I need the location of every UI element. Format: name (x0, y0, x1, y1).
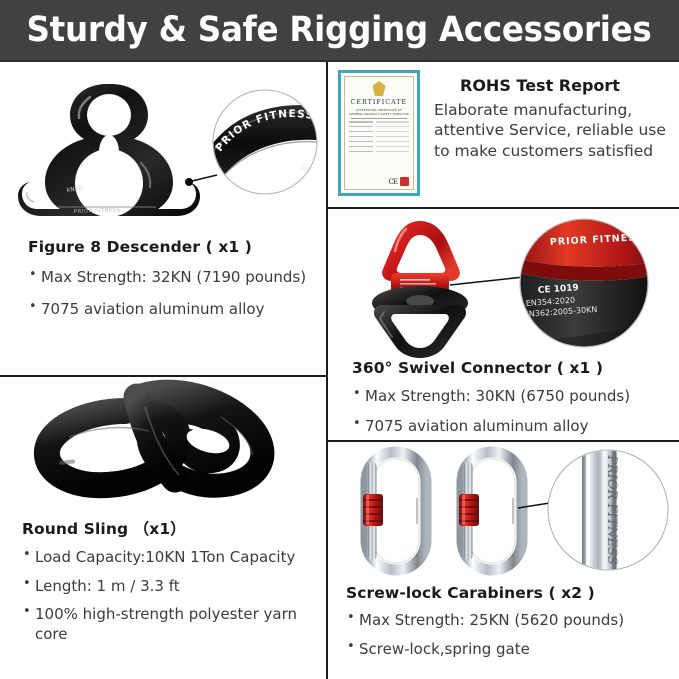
round-sling-illustration (25, 381, 305, 509)
swivel-title: 360° Swivel Connector ( x1 ) (352, 359, 677, 377)
certificate-subtitle: ATTESTATION CERTIFICATE OF GENERAL PRODU… (349, 108, 409, 116)
figure8-spec-list: Max Strength: 32KN (7190 pounds) 7075 av… (28, 268, 320, 319)
swivel-callout-leader (450, 277, 524, 285)
carabiner-magnifier-callout: PRIOR FITNESS (548, 446, 668, 576)
carabiners-title: Screw-lock Carabiners ( x2 ) (346, 584, 676, 602)
certificate-seal-icon (373, 81, 386, 96)
carabiner-1 (363, 452, 426, 570)
product-card-round-sling: Round Sling （x1） Load Capacity:10KN 1Ton… (0, 377, 326, 679)
swivel-text-block: 360° Swivel Connector ( x1 ) Max Strengt… (352, 359, 677, 436)
certificate-heading: CERTIFICATE (351, 98, 408, 106)
certificate-image: CERTIFICATE ATTESTATION CERTIFICATE OF G… (338, 70, 420, 196)
swivel-magnifier-callout: PRIOR FITNESS CE 1019 EN354:2020 EN362:2… (518, 213, 658, 363)
list-item: Length: 1 m / 3.3 ft (22, 577, 322, 597)
carabiners-spec-list: Max Strength: 25KN (5620 pounds) Screw-l… (346, 611, 676, 659)
list-item: 7075 aviation aluminum alloy (352, 417, 677, 437)
figure8-magnifier-callout: PRIOR FITNESS kN50 (200, 90, 342, 194)
ce-mark-icon: CE (389, 178, 397, 186)
round-sling-spec-list: Load Capacity:10KN 1Ton Capacity Length:… (22, 548, 322, 644)
list-item: 7075 aviation aluminum alloy (28, 300, 320, 320)
info-card-rohs: CERTIFICATE ATTESTATION CERTIFICATE OF G… (328, 62, 679, 207)
round-sling-title: Round Sling （x1） (22, 517, 322, 539)
product-card-swivel: PRIOR FITNESS CE 1019 EN354:2020 EN362:2… (328, 209, 679, 440)
list-item: Load Capacity:10KN 1Ton Capacity (22, 548, 322, 568)
swivel-body (372, 221, 468, 358)
header-banner: Sturdy & Safe Rigging Accessories (0, 0, 679, 62)
list-item: Max Strength: 32KN (7190 pounds) (28, 268, 320, 288)
figure8-title: Figure 8 Descender ( x1 ) (28, 238, 320, 256)
figure8-text-block: Figure 8 Descender ( x1 ) Max Strength: … (28, 238, 320, 319)
carabiners-illustration: PRIOR FITNESS (350, 446, 670, 576)
list-item: Screw-lock,spring gate (346, 640, 676, 660)
sling-webbing (47, 392, 263, 486)
carabiner-callout-engraving: PRIOR FITNESS (604, 454, 619, 565)
carabiner-2 (459, 452, 522, 570)
product-card-figure8: kN50 PRIOR FITNESS (0, 62, 326, 375)
carabiners-text-block: Screw-lock Carabiners ( x2 ) Max Strengt… (346, 584, 676, 659)
list-item: Max Strength: 25KN (5620 pounds) (346, 611, 676, 631)
swivel-illustration: PRIOR FITNESS CE 1019 EN354:2020 EN362:2… (358, 213, 658, 353)
certificate-detail-rows (349, 121, 409, 177)
infographic-page: Sturdy & Safe Rigging Accessories (0, 0, 679, 679)
certification-badge-icon (400, 177, 409, 186)
page-title: Sturdy & Safe Rigging Accessories (27, 13, 652, 48)
product-card-carabiners: PRIOR FITNESS Screw-lock Carabiners ( x2… (328, 442, 679, 679)
list-item: Max Strength: 30KN (6750 pounds) (352, 387, 677, 407)
list-item: 100% high-strength polyester yarn core (22, 605, 322, 644)
rohs-title: ROHS Test Report (460, 76, 679, 95)
figure8-body (18, 84, 200, 217)
swivel-spec-list: Max Strength: 30KN (6750 pounds) 7075 av… (352, 387, 677, 436)
certificate-rule (351, 118, 406, 119)
figure8-illustration: kN50 PRIOR FITNESS (12, 70, 314, 220)
rohs-description: Elaborate manufacturing, attentive Servi… (434, 100, 679, 161)
round-sling-text-block: Round Sling （x1） Load Capacity:10KN 1Ton… (22, 517, 322, 644)
